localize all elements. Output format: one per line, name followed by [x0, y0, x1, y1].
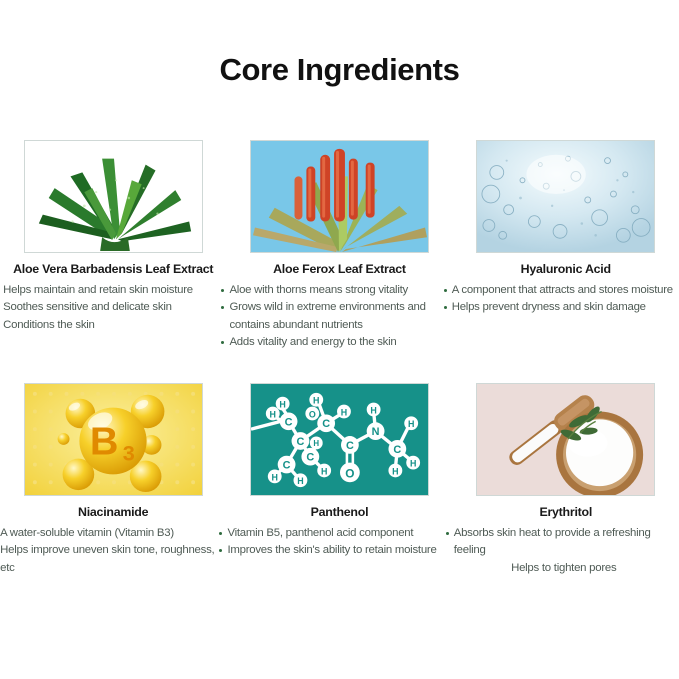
list-item: Aloe with thorns means strong vitality [220, 282, 456, 300]
aloe-ferox-flowering-photo [250, 140, 429, 253]
page-title: Core Ingredients [0, 52, 679, 88]
ingredient-card-aloe-vera-barbadensis: Aloe Vera Barbadensis Leaf Extract Helps… [0, 140, 226, 352]
ingredient-card-erythritol: Erythritol Absorbs skin heat to provide … [453, 383, 679, 577]
svg-text:H: H [279, 400, 285, 410]
list-item: Absorbs skin heat to provide a refreshin… [445, 525, 679, 560]
svg-text:H: H [269, 409, 275, 419]
svg-text:C: C [283, 460, 291, 472]
svg-text:C: C [393, 444, 401, 456]
svg-text:H: H [297, 476, 303, 486]
list-item: Improves the skin's ability to retain mo… [218, 542, 458, 560]
list-item: Helps maintain and retain skin moisture [0, 282, 226, 300]
svg-text:H: H [321, 466, 327, 476]
svg-text:O: O [345, 466, 354, 480]
benefit-list: Helps maintain and retain skin moisture … [0, 282, 226, 335]
svg-text:H: H [408, 419, 414, 429]
card-title: Niacinamide [78, 505, 148, 520]
benefit-list: Vitamin B5, panthenol acid component Imp… [218, 525, 458, 560]
svg-text:C: C [346, 440, 354, 452]
card-title: Aloe Ferox Leaf Extract [273, 262, 406, 277]
list-item: Conditions the skin [0, 317, 226, 335]
ingredient-row-top: Aloe Vera Barbadensis Leaf Extract Helps… [0, 140, 679, 352]
svg-text:H: H [313, 396, 319, 406]
erythritol-scoop-bowl-photo [476, 383, 655, 496]
svg-text:H: H [410, 459, 416, 469]
benefit-list: A water-soluble vitamin (Vitamin B3) Hel… [0, 525, 227, 578]
svg-text:O: O [309, 409, 316, 419]
svg-text:3: 3 [122, 441, 134, 466]
ingredient-card-panthenol: H H C C C C H H H H C H H C O [226, 383, 452, 577]
card-title: Erythritol [539, 505, 592, 520]
list-item: Soothes sensitive and delicate skin [0, 299, 226, 317]
benefit-list: A component that attracts and stores moi… [443, 282, 679, 317]
core-ingredients-page: Core Ingredients [0, 0, 679, 679]
ingredient-row-bottom: B 3 Niacinamide A water-soluble vitamin … [0, 383, 679, 577]
list-item: Adds vitality and energy to the skin [220, 334, 456, 352]
benefit-list: Aloe with thorns means strong vitality G… [220, 282, 456, 352]
card-title: Aloe Vera Barbadensis Leaf Extract [13, 262, 213, 277]
ingredient-card-hyaluronic-acid: Hyaluronic Acid A component that attract… [453, 140, 679, 352]
card-title: Hyaluronic Acid [521, 262, 611, 277]
list-item: A component that attracts and stores moi… [443, 282, 679, 300]
svg-text:C: C [285, 416, 293, 428]
ingredient-card-niacinamide: B 3 Niacinamide A water-soluble vitamin … [0, 383, 226, 577]
svg-text:C: C [322, 418, 330, 430]
ingredient-card-aloe-ferox: Aloe Ferox Leaf Extract Aloe with thorns… [226, 140, 452, 352]
svg-text:C: C [306, 452, 314, 464]
panthenol-molecular-structure-graphic: H H C C C C H H H H C H H C O [250, 383, 429, 496]
water-bubbles-photo [476, 140, 655, 253]
aloe-vera-plant-photo [24, 140, 203, 253]
vitamin-b3-droplet-graphic: B 3 [24, 383, 203, 496]
svg-text:H: H [392, 466, 398, 476]
svg-text:N: N [372, 426, 380, 438]
svg-text:B: B [89, 420, 118, 464]
svg-text:H: H [271, 472, 277, 482]
card-title: Panthenol [311, 505, 369, 520]
svg-text:C: C [296, 436, 304, 448]
svg-text:H: H [313, 439, 319, 448]
svg-text:H: H [370, 405, 376, 415]
list-item: Grows wild in extreme environments and c… [220, 299, 456, 334]
list-item: Helps to tighten pores [445, 560, 679, 578]
svg-text:H: H [341, 407, 347, 417]
benefit-list: Absorbs skin heat to provide a refreshin… [445, 525, 679, 578]
list-item: Vitamin B5, panthenol acid component [218, 525, 458, 543]
list-item: A water-soluble vitamin (Vitamin B3) [0, 525, 227, 543]
list-item: Helps prevent dryness and skin damage [443, 299, 679, 317]
list-item: Helps improve uneven skin tone, roughnes… [0, 542, 227, 577]
